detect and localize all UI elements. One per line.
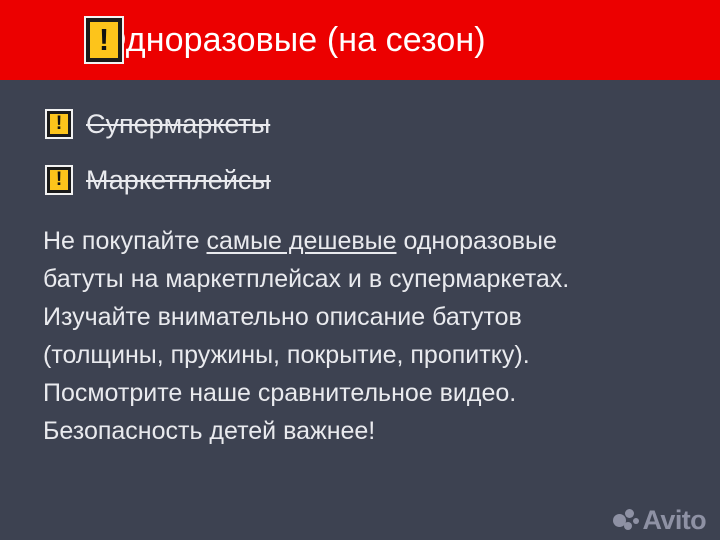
body-paragraph: Не покупайте самые дешевые одноразовые б… — [43, 222, 683, 450]
warning-exclamation-icon: ! — [86, 18, 122, 62]
paragraph-line: Не покупайте самые дешевые одноразовые — [43, 222, 683, 260]
exclamation-glyph: ! — [56, 170, 62, 189]
warning-exclamation-icon: ! — [47, 167, 71, 193]
logo-dot — [624, 522, 632, 530]
avito-watermark: Avito — [613, 507, 707, 534]
paragraph-line: Безопасность детей важнее! — [43, 412, 683, 450]
logo-dot — [633, 518, 639, 524]
paragraph-line: Посмотрите наше сравнительное видео. — [43, 374, 683, 412]
avito-brand-label: Avito — [643, 507, 707, 534]
exclamation-glyph: ! — [99, 24, 109, 55]
body-area: ! Супермаркеты ! Маркетплейсы Не покупай… — [0, 80, 720, 540]
warning-list: ! Супермаркеты ! Маркетплейсы — [47, 106, 271, 198]
paragraph-emphasis: самые дешевые — [207, 227, 397, 255]
exclamation-glyph: ! — [56, 114, 62, 133]
header-title: Одноразовые (на сезон) — [100, 21, 486, 59]
avito-dots-logo-icon — [613, 509, 639, 533]
paragraph-text: Не покупайте — [43, 227, 207, 255]
paragraph-line: батуты на маркетплейсах и в супермаркета… — [43, 260, 683, 298]
logo-dot — [625, 509, 634, 518]
list-item: ! Маркетплейсы — [47, 162, 271, 198]
paragraph-text: одноразовые — [397, 227, 557, 255]
paragraph-line: (толщины, пружины, покрытие, пропитку). — [43, 336, 683, 374]
warning-exclamation-icon: ! — [47, 111, 71, 137]
slide-root: Одноразовые (на сезон) ! ! Супермаркеты … — [0, 0, 720, 540]
list-item-label: Супермаркеты — [86, 109, 270, 139]
paragraph-line: Изучайте внимательно описание батутов — [43, 298, 683, 336]
list-item: ! Супермаркеты — [47, 106, 271, 142]
header-warning-icon-wrap: ! — [86, 18, 122, 62]
list-item-label: Маркетплейсы — [86, 165, 271, 195]
